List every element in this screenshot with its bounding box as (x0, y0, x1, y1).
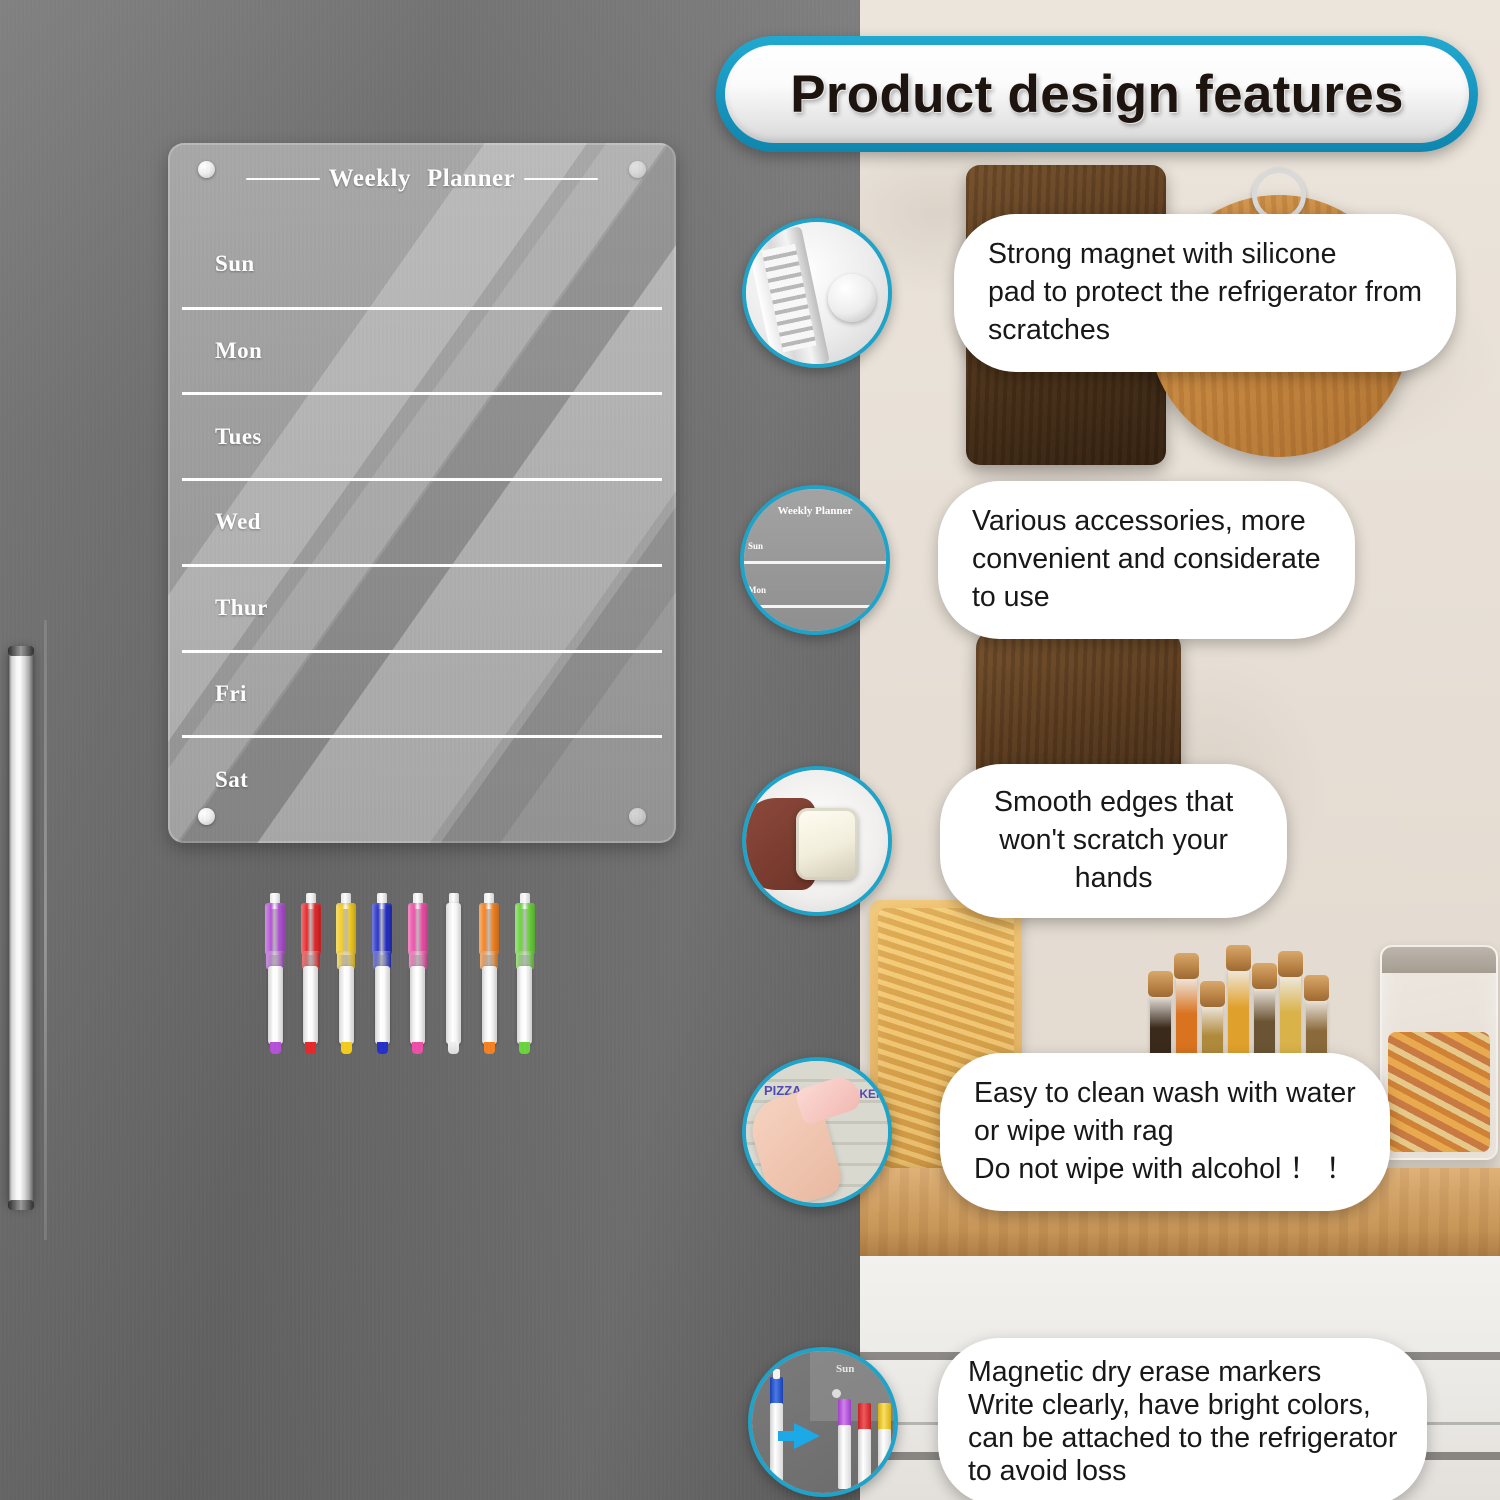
planner-row-mon[interactable]: Mon (182, 307, 662, 393)
marker-tip (270, 1042, 281, 1054)
feature-line: Various accessories, more (972, 503, 1321, 541)
jar-contents (1388, 1032, 1490, 1152)
marker-green[interactable] (515, 893, 535, 1058)
storage-jar (1380, 945, 1498, 1160)
thumbnail-markers-attaching[interactable]: Sun (748, 1347, 898, 1497)
mini-planner-rule (744, 605, 886, 608)
planner-row-sun[interactable]: Sun (182, 221, 662, 307)
title-pill: Product design features (725, 45, 1469, 143)
handle-cap-bottom (8, 1200, 34, 1210)
feature-line: Strong magnet with silicone (988, 236, 1422, 274)
marker-tip (484, 1042, 495, 1054)
feature-line: Do not wipe with alcohol ！ ！ (974, 1151, 1356, 1189)
spice-tube-cork (1174, 953, 1199, 979)
fridge-door-handle (8, 648, 34, 1208)
marker-tip (448, 1042, 459, 1054)
fridge-door-seam (44, 620, 47, 1240)
feature-bubble-various-accessories: Various accessories, more convenient and… (938, 481, 1355, 639)
feature-strong-magnet: Strong magnet with silicone pad to prote… (742, 214, 1456, 372)
mini-planner-day-sun: Sun (748, 541, 763, 551)
feature-line: Magnetic dry erase markers (968, 1356, 1397, 1389)
mini-planner-day-mon: Mon (748, 585, 766, 595)
feature-line: convenient and considerate (972, 541, 1321, 579)
feature-line: hands (994, 860, 1233, 898)
day-label-sat: Sat (215, 767, 248, 793)
magnet-dot-bottom-left (198, 808, 215, 825)
spice-tube-cork (1252, 963, 1277, 989)
thumbnail-hand-wiping-board[interactable]: PIZZA CHICKEN WI (742, 1057, 892, 1207)
marker-pink[interactable] (408, 893, 428, 1058)
feature-line: scratches (988, 312, 1422, 350)
marker-barrel-blue (770, 1403, 783, 1485)
marker-barrel (375, 966, 390, 1044)
day-label-thur: Thur (215, 595, 268, 621)
thumbnail-magnet-silicone-pad[interactable] (742, 218, 892, 368)
feature-line: to use (972, 579, 1321, 617)
marker-cap (301, 903, 321, 955)
marker-barrel (339, 966, 354, 1044)
marker-cap-purple (838, 1399, 851, 1427)
magnet-dot-bottom-right (629, 808, 646, 825)
feature-various-accessories: Weekly Planner Sun Mon Various accessori… (740, 481, 1355, 639)
feature-line: Smooth edges that (994, 784, 1233, 822)
marker-tip (341, 1042, 352, 1054)
mini-planner-title: Weekly Planner (744, 505, 886, 517)
page-title-banner: Product design features (716, 36, 1478, 152)
feature-line: Write clearly, have bright colors, (968, 1389, 1397, 1422)
thumbnail-corner-magnet[interactable] (742, 766, 892, 916)
marker-clip (773, 1369, 780, 1379)
marker-tip (412, 1042, 423, 1054)
dry-erase-marker-set (265, 893, 535, 1058)
day-label-wed: Wed (215, 509, 261, 535)
marker-barrel (410, 966, 425, 1044)
feature-line: pad to protect the refrigerator from (988, 274, 1422, 312)
weekly-planner-board[interactable]: Weekly Planner Sun Mon Tues Wed Thur Fri… (168, 143, 676, 843)
day-label-fri: Fri (215, 681, 247, 707)
marker-cap (265, 903, 285, 955)
feature-line: Easy to clean wash with water (974, 1075, 1356, 1113)
planner-row-sat[interactable]: Sat (182, 735, 662, 821)
marker-purple[interactable] (265, 893, 285, 1058)
mini-board-day-sun: Sun (836, 1363, 854, 1375)
marker-cap (336, 903, 356, 955)
feature-magnetic-markers: Sun Magnetic dry erase markers Write cle… (748, 1338, 1427, 1500)
marker-barrel (446, 903, 461, 1044)
marker-red[interactable] (301, 893, 321, 1058)
feature-line: or wipe with rag (974, 1113, 1356, 1151)
magnet-disc (828, 274, 876, 322)
planner-day-rows: Sun Mon Tues Wed Thur Fri Sat (182, 221, 662, 821)
page-title: Product design features (790, 64, 1404, 125)
planner-title-word-1: Weekly (329, 165, 411, 193)
day-label-tues: Tues (215, 424, 262, 450)
mini-planner-rule (744, 561, 886, 564)
magnet-cap (796, 808, 858, 880)
feature-line: can be attached to the refrigerator (968, 1422, 1397, 1455)
spice-tube-cork (1278, 951, 1303, 977)
marker-cap-blue (770, 1377, 783, 1405)
handle-cap-top (8, 646, 34, 656)
magnet-dot-top-right (629, 161, 646, 178)
feature-bubble-strong-magnet: Strong magnet with silicone pad to prote… (954, 214, 1456, 372)
marker-cap (408, 903, 428, 955)
marker-barrel (303, 966, 318, 1044)
marker-cap (515, 903, 535, 955)
marker-tip (305, 1042, 316, 1054)
marker-white[interactable] (444, 893, 464, 1058)
marker-tip (377, 1042, 388, 1054)
title-rule-right (524, 178, 598, 181)
feature-smooth-edges: Smooth edges that won't scratch your han… (742, 764, 1287, 918)
feature-line: won't scratch your (994, 822, 1233, 860)
spice-tube-cork (1304, 975, 1329, 1001)
title-rule-left (246, 178, 320, 181)
marker-cap-yellow (878, 1403, 891, 1431)
spice-tube-cork (1148, 971, 1173, 997)
planner-surface: Weekly Planner Sun Mon Tues Wed Thur Fri… (168, 143, 676, 843)
marker-blue[interactable] (372, 893, 392, 1058)
marker-barrel-yellow (878, 1429, 891, 1485)
marker-cap-red (858, 1403, 871, 1431)
arrow-head-icon (794, 1423, 820, 1449)
jar-lid (1382, 947, 1496, 973)
day-label-mon: Mon (215, 338, 262, 364)
marker-barrel (268, 966, 283, 1044)
spice-tube-cork (1226, 945, 1251, 971)
planner-title: Weekly Planner (168, 165, 676, 193)
planner-row-tues[interactable]: Tues (182, 392, 662, 478)
planner-title-word-2: Planner (427, 165, 515, 193)
thumbnail-weekly-planner-board[interactable]: Weekly Planner Sun Mon (740, 485, 890, 635)
marker-tip (519, 1042, 530, 1054)
spice-tube-cork (1200, 981, 1225, 1007)
day-label-sun: Sun (215, 251, 255, 277)
feature-bubble-magnetic-markers: Magnetic dry erase markers Write clearly… (938, 1338, 1427, 1500)
feature-bubble-smooth-edges: Smooth edges that won't scratch your han… (940, 764, 1287, 918)
marker-barrel (482, 966, 497, 1044)
marker-yellow[interactable] (336, 893, 356, 1058)
planner-row-thur[interactable]: Thur (182, 564, 662, 650)
marker-cap (479, 903, 499, 955)
feature-bubble-easy-clean: Easy to clean wash with water or wipe wi… (940, 1053, 1390, 1211)
marker-barrel-red (858, 1429, 871, 1487)
marker-barrel (517, 966, 532, 1044)
refrigerator-panel: Weekly Planner Sun Mon Tues Wed Thur Fri… (0, 0, 860, 1500)
magnet-dot-top-left (198, 161, 215, 178)
planner-row-fri[interactable]: Fri (182, 650, 662, 736)
marker-orange[interactable] (479, 893, 499, 1058)
feature-easy-clean: PIZZA CHICKEN WI Easy to clean wash with… (742, 1053, 1390, 1211)
marker-barrel-purple (838, 1425, 851, 1489)
marker-cap (372, 903, 392, 955)
feature-line: to avoid loss (968, 1455, 1397, 1488)
planner-row-wed[interactable]: Wed (182, 478, 662, 564)
